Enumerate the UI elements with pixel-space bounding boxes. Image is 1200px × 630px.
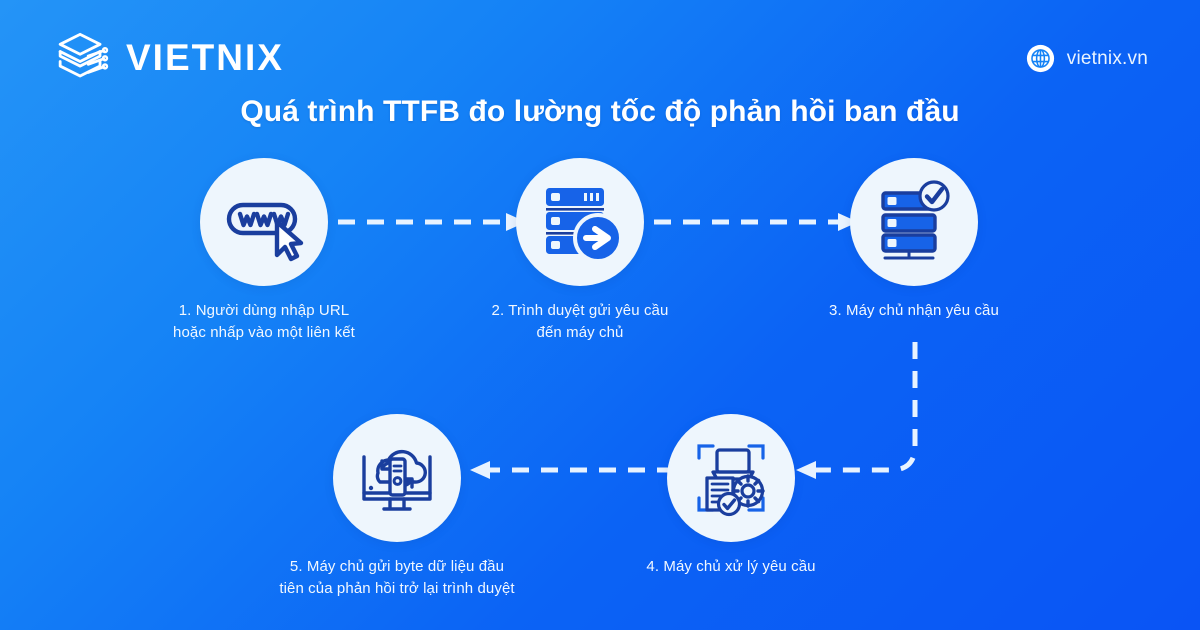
step-1-bubble xyxy=(200,158,328,286)
step-2-bubble xyxy=(516,158,644,286)
stacked-layers-icon xyxy=(52,28,110,86)
site-url-text: vietnix.vn xyxy=(1067,48,1148,70)
step-5: 5. Máy chủ gửi byte dữ liệu đầu tiên của… xyxy=(267,414,527,600)
globe-icon xyxy=(1026,44,1055,73)
brand-name: VIETNIX xyxy=(126,39,284,76)
step-2-caption: 2. Trình duyệt gửi yêu cầu đến máy chủ xyxy=(450,300,710,344)
step-5-bubble xyxy=(333,414,461,542)
step-4-caption: 4. Máy chủ xử lý yêu cầu xyxy=(601,556,861,578)
step-2: 2. Trình duyệt gửi yêu cầu đến máy chủ xyxy=(450,158,710,344)
infographic-canvas: VIETNIX vietnix.vn Quá trình TTFB đo lườ… xyxy=(0,0,1200,630)
step-1-caption: 1. Người dùng nhập URL hoặc nhấp vào một… xyxy=(134,300,394,344)
step-3-bubble xyxy=(850,158,978,286)
step-1: 1. Người dùng nhập URL hoặc nhấp vào một… xyxy=(134,158,394,344)
laptop-document-gear-icon xyxy=(689,436,773,520)
step-3-caption: 3. Máy chủ nhận yêu cầu xyxy=(784,300,1044,322)
step-5-caption: 5. Máy chủ gửi byte dữ liệu đầu tiên của… xyxy=(267,556,527,600)
brand-logo: VIETNIX xyxy=(52,28,284,86)
monitor-cloud-sync-icon xyxy=(354,435,440,521)
server-send-arrow-icon xyxy=(538,180,622,264)
step-4-bubble xyxy=(667,414,795,542)
www-address-bar-cursor-icon xyxy=(221,179,307,265)
site-url-badge[interactable]: vietnix.vn xyxy=(1026,44,1148,73)
page-title: Quá trình TTFB đo lường tốc độ phản hồi … xyxy=(0,95,1200,129)
step-4: 4. Máy chủ xử lý yêu cầu xyxy=(601,414,861,578)
server-rack-check-icon xyxy=(871,179,957,265)
step-3: 3. Máy chủ nhận yêu cầu xyxy=(784,158,1044,322)
